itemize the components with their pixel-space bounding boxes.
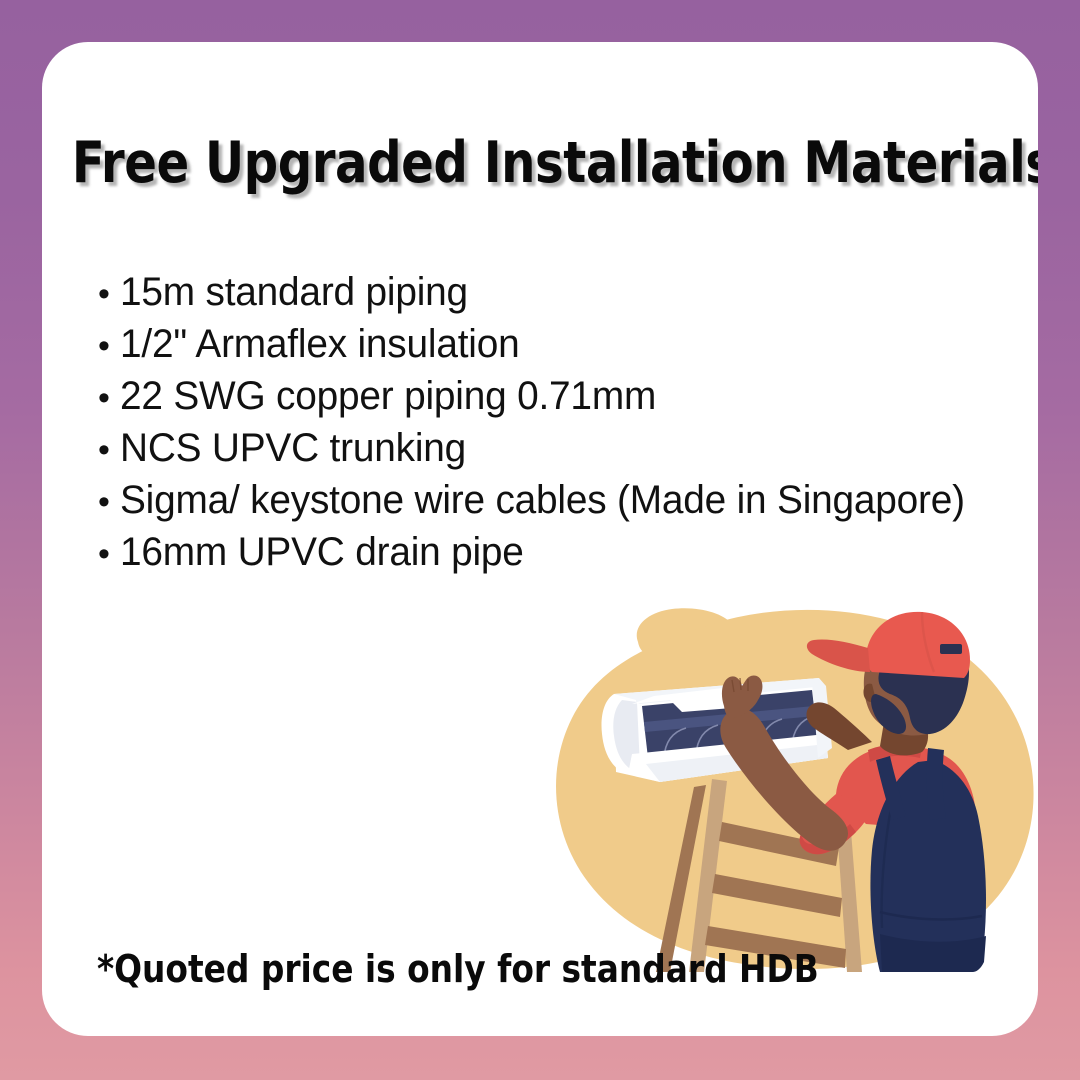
list-item-label: 16mm UPVC drain pipe [120,530,524,575]
materials-list: • 15m standard piping • 1/2" Armaflex in… [98,270,998,582]
bullet-point-icon: • [98,381,120,415]
list-item-label: 22 SWG copper piping 0.71mm [120,374,656,419]
bullet-point-icon: • [98,485,120,519]
list-item-label: Sigma/ keystone wire cables (Made in Sin… [120,478,965,523]
footnote-disclaimer: *Quoted price is only for standard HDB [97,947,819,991]
list-item: • Sigma/ keystone wire cables (Made in S… [98,478,998,530]
bullet-point-icon: • [98,277,120,311]
content-card: Free Upgraded Installation Materials: • … [42,42,1038,1036]
list-item-label: 15m standard piping [120,270,468,315]
cap-patch [940,644,962,654]
list-item: • NCS UPVC trunking [98,426,998,478]
list-item-label: 1/2" Armaflex insulation [120,322,519,367]
list-item: • 15m standard piping [98,270,998,322]
page-title: Free Upgraded Installation Materials: [72,130,1008,196]
bullet-point-icon: • [98,433,120,467]
bullet-point-icon: • [98,537,120,571]
list-item: • 22 SWG copper piping 0.71mm [98,374,998,426]
bullet-point-icon: • [98,329,120,363]
list-item: • 16mm UPVC drain pipe [98,530,998,582]
list-item-label: NCS UPVC trunking [120,426,466,471]
list-item: • 1/2" Armaflex insulation [98,322,998,374]
aircon-technician-on-ladder-illustration [536,582,1038,972]
